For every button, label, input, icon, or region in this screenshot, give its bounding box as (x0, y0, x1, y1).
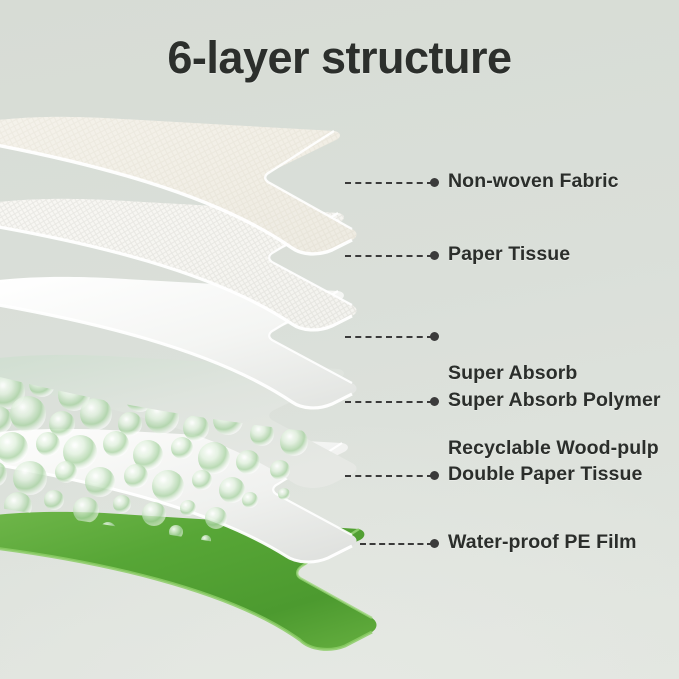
illustration-canvas: 6-layer structure (0, 0, 679, 679)
leader-dot (430, 332, 439, 341)
leader-dot (430, 178, 439, 187)
leader-line (345, 475, 433, 477)
callout-label-line1: Super Absorb (448, 361, 659, 386)
leader-line (360, 543, 433, 545)
leader-dot (430, 251, 439, 260)
callout-label: Water-proof PE Film (448, 530, 637, 555)
leader-dot (430, 471, 439, 480)
leader-line (345, 336, 433, 338)
leader-line (345, 182, 433, 184)
leader-dot (430, 539, 439, 548)
leader-line (345, 401, 433, 403)
callout-label: Non-woven Fabric (448, 169, 619, 194)
leader-dot (430, 397, 439, 406)
leader-line (345, 255, 433, 257)
callout-label: Double Paper Tissue (448, 462, 642, 487)
callout-label: Paper Tissue (448, 242, 570, 267)
callout-label: Super Absorb Polymer (448, 388, 661, 413)
callout-label-line2: Recyclable Wood-pulp (448, 436, 659, 461)
